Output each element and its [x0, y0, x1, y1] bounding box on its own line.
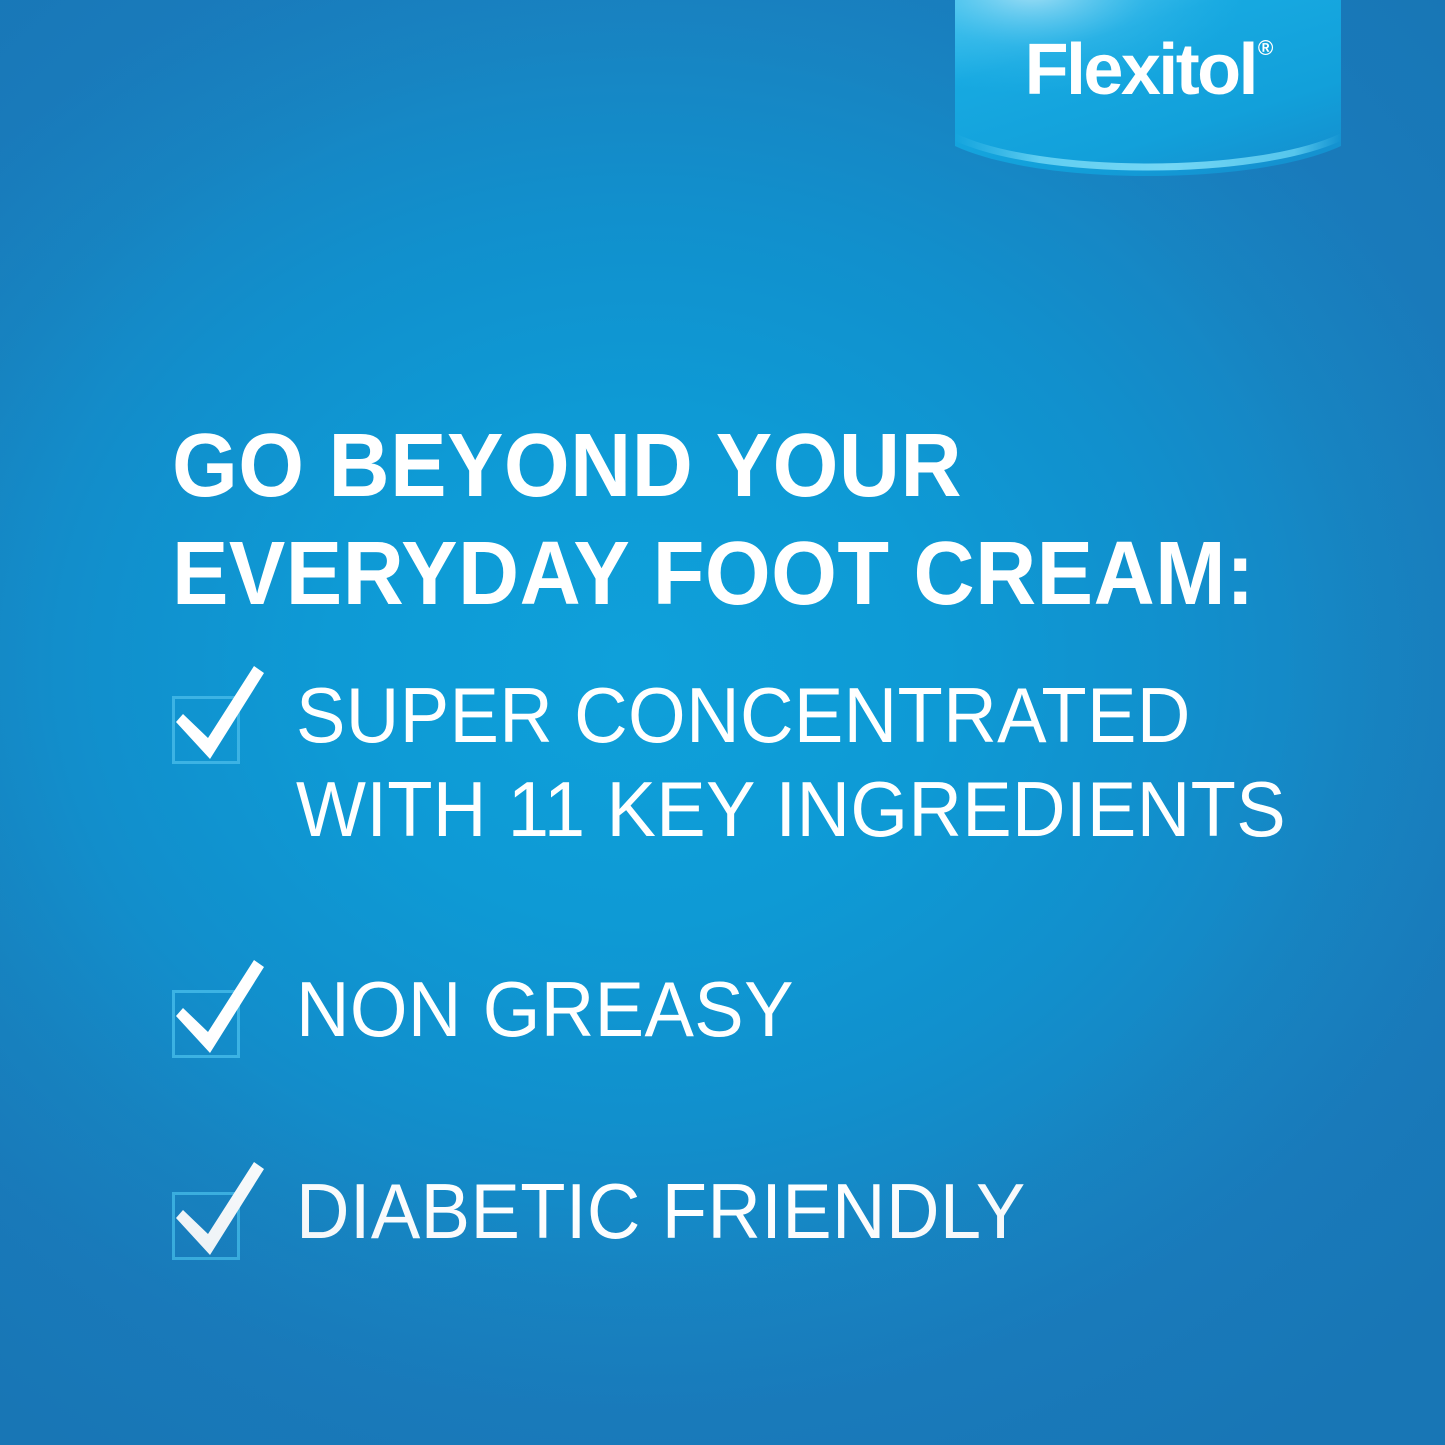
benefit-text: DIABETIC FRIENDLY	[296, 1164, 1026, 1258]
brand-name: Flexitol	[1025, 30, 1256, 110]
benefit-line-1: DIABETIC FRIENDLY	[296, 1164, 1026, 1258]
benefit-text: SUPER CONCENTRATED WITH 11 KEY INGREDIEN…	[296, 668, 1286, 856]
benefit-line-1: NON GREASY	[296, 962, 794, 1056]
check-mark-icon	[168, 1158, 272, 1264]
benefit-line-2: WITH 11 KEY INGREDIENTS	[296, 762, 1286, 856]
brand-wordmark: Flexitol®	[955, 34, 1341, 106]
headline-line-2: EVERYDAY FOOT CREAM:	[172, 520, 1262, 628]
promo-canvas: Flexitol® GO BEYOND YOUR EVERYDAY FOOT C…	[0, 0, 1445, 1445]
brand-logo-badge: Flexitol®	[955, 0, 1341, 192]
headline-line-1: GO BEYOND YOUR	[172, 412, 1262, 520]
check-mark-icon	[168, 956, 272, 1062]
benefit-text: NON GREASY	[296, 962, 794, 1056]
check-mark-icon	[168, 662, 272, 768]
checkbox-checked-icon	[172, 990, 240, 1058]
benefits-list: SUPER CONCENTRATED WITH 11 KEY INGREDIEN…	[172, 668, 1372, 1260]
checkbox-checked-icon	[172, 696, 240, 764]
registered-trademark-icon: ®	[1258, 37, 1273, 60]
benefit-item-non-greasy: NON GREASY	[172, 962, 1372, 1058]
benefit-item-super-concentrated: SUPER CONCENTRATED WITH 11 KEY INGREDIEN…	[172, 668, 1372, 856]
page-title: GO BEYOND YOUR EVERYDAY FOOT CREAM:	[172, 412, 1262, 628]
benefit-item-diabetic-friendly: DIABETIC FRIENDLY	[172, 1164, 1372, 1260]
benefit-line-1: SUPER CONCENTRATED	[296, 668, 1286, 762]
checkbox-checked-icon	[172, 1192, 240, 1260]
